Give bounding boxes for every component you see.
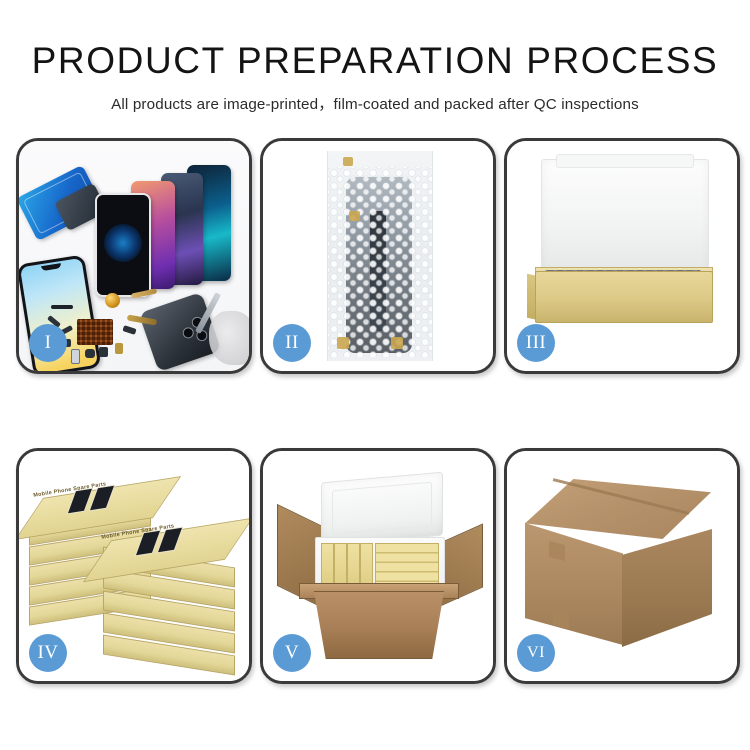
tape-piece xyxy=(391,337,403,349)
step-panel-2: II xyxy=(260,138,496,374)
small-part xyxy=(85,349,95,358)
small-part xyxy=(115,343,123,354)
step-panel-5: V xyxy=(260,448,496,684)
small-part xyxy=(71,349,80,364)
step-badge-1: I xyxy=(29,324,67,362)
kraft-inner-box xyxy=(535,271,713,323)
step-panel-1: I xyxy=(16,138,252,374)
technician-hand xyxy=(209,311,249,365)
bubble-wrap-bag xyxy=(327,151,433,361)
camera-lens-icon xyxy=(181,326,195,340)
carton-front-face xyxy=(305,591,453,659)
carton-top-face xyxy=(525,479,711,539)
step-panel-3: III xyxy=(504,138,740,374)
step-badge-5: V xyxy=(273,634,311,672)
tape-piece xyxy=(337,337,349,349)
carton-right-face xyxy=(622,529,712,647)
front-glass-panel xyxy=(95,193,151,297)
header: PRODUCT PREPARATION PROCESS All products… xyxy=(0,0,750,114)
battery-connector-strip xyxy=(51,305,73,309)
step-badge-2: II xyxy=(273,324,311,362)
small-part xyxy=(122,325,136,335)
bubble-texture xyxy=(328,167,432,357)
screw-set xyxy=(77,319,113,345)
white-foam-lid xyxy=(541,159,709,279)
carton-left-face xyxy=(525,523,623,645)
tape-piece xyxy=(349,211,360,221)
step-panel-6: VI xyxy=(504,448,740,684)
small-part xyxy=(99,347,108,357)
step-badge-6: VI xyxy=(517,634,555,672)
speaker-module xyxy=(105,293,120,308)
page-title: PRODUCT PREPARATION PROCESS xyxy=(0,0,750,81)
process-steps-grid: I II xyxy=(16,138,734,678)
tape-piece xyxy=(343,157,353,166)
product-preparation-process-infographic: PRODUCT PREPARATION PROCESS All products… xyxy=(0,0,750,750)
page-subtitle: All products are image-printed，film-coat… xyxy=(0,81,750,114)
step-badge-4: IV xyxy=(29,634,67,672)
foam-lid-open xyxy=(321,472,443,547)
step-badge-3: III xyxy=(517,324,555,362)
step-panel-4: Mobile Phone Spare Parts Mobile Phone Sp… xyxy=(16,448,252,684)
